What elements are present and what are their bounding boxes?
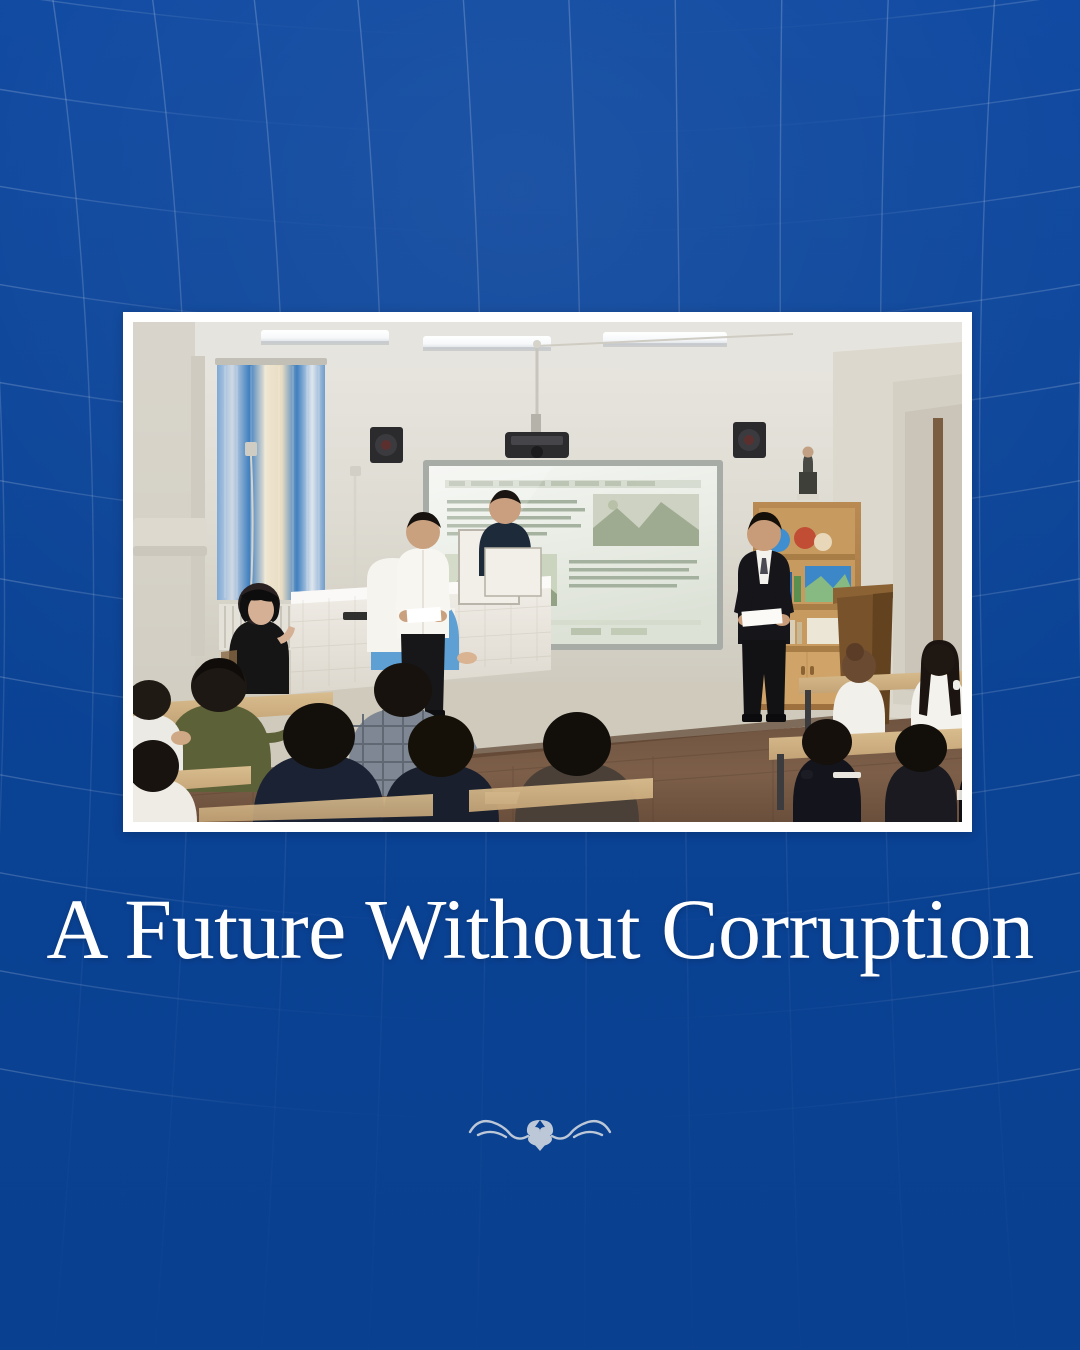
classroom-photo (133, 322, 962, 822)
page-title: A Future Without Corruption (0, 886, 1080, 972)
poster-canvas: A Future Without Corruption (0, 0, 1080, 1350)
photo-card (123, 312, 972, 832)
ornamental-divider (0, 1104, 1080, 1160)
